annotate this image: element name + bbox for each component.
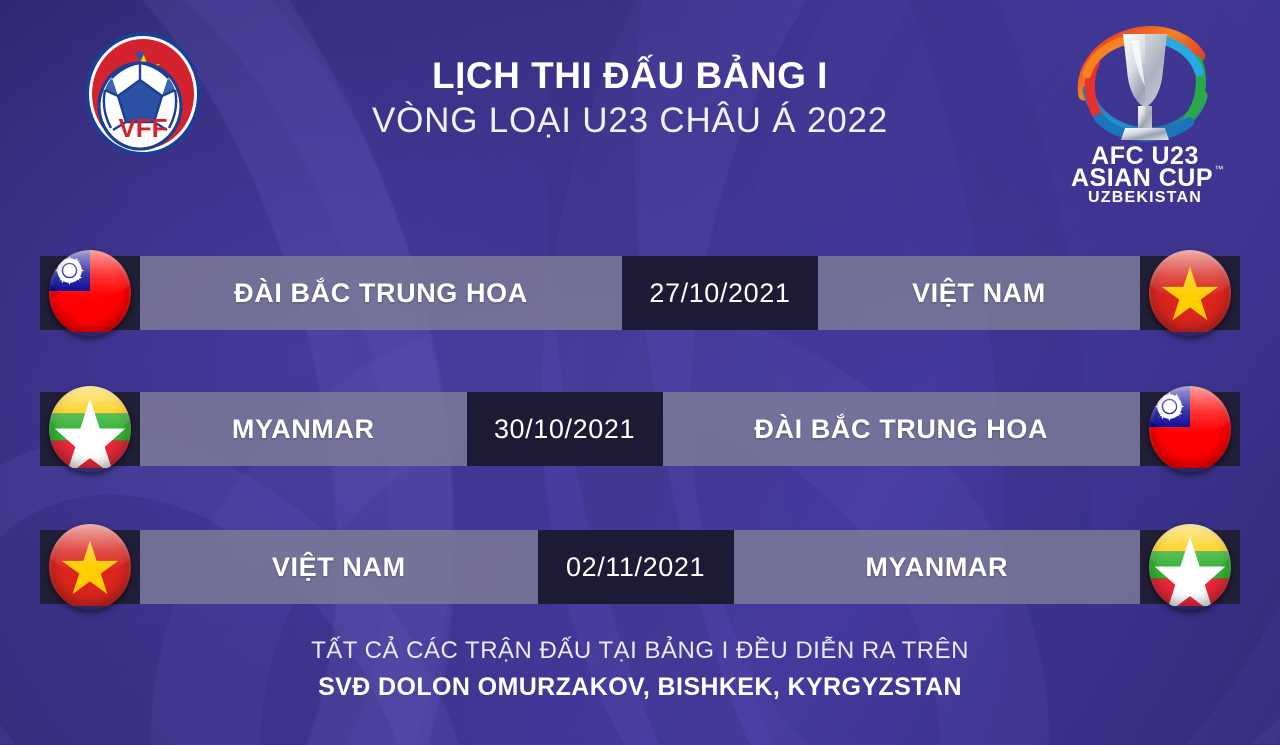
vietnam-flag-icon — [49, 524, 131, 610]
venue-note-line2: SVĐ DOLON OMURZAKOV, BISHKEK, KYRGYZSTAN — [0, 671, 1280, 704]
away-flag-cell — [1140, 392, 1240, 466]
match-row: ĐÀI BẮC TRUNG HOA 27/10/2021 VIỆT NAM — [40, 256, 1240, 330]
vietnam-flag-icon — [1149, 250, 1231, 336]
match-schedule-list: ĐÀI BẮC TRUNG HOA 27/10/2021 VIỆT NAM — [0, 0, 1280, 745]
home-flag-cell — [40, 530, 140, 604]
match-row: MYANMAR 30/10/2021 ĐÀI BẮC TRUNG HOA — [40, 392, 1240, 466]
myanmar-flag-icon — [1149, 524, 1231, 610]
chinese-taipei-flag-icon — [1149, 386, 1231, 472]
myanmar-flag-icon — [49, 386, 131, 472]
venue-note: TẤT CẢ CÁC TRẬN ĐẤU TẠI BẢNG I ĐỀU DIỄN … — [0, 636, 1280, 704]
chinese-taipei-flag-icon — [49, 250, 131, 336]
match-date: 30/10/2021 — [467, 392, 663, 466]
match-date: 27/10/2021 — [622, 256, 818, 330]
venue-note-line1: TẤT CẢ CÁC TRẬN ĐẤU TẠI BẢNG I ĐỀU DIỄN … — [0, 636, 1280, 666]
home-team-name: MYANMAR — [140, 392, 467, 466]
home-flag-cell — [40, 256, 140, 330]
home-flag-cell — [40, 392, 140, 466]
away-team-name: VIỆT NAM — [818, 256, 1140, 330]
away-team-name: MYANMAR — [734, 530, 1140, 604]
match-row: VIỆT NAM 02/11/2021 MYANMAR — [40, 530, 1240, 604]
away-flag-cell — [1140, 530, 1240, 604]
away-flag-cell — [1140, 256, 1240, 330]
home-team-name: ĐÀI BẮC TRUNG HOA — [140, 256, 622, 330]
match-date: 02/11/2021 — [538, 530, 734, 604]
home-team-name: VIỆT NAM — [140, 530, 538, 604]
away-team-name: ĐÀI BẮC TRUNG HOA — [663, 392, 1140, 466]
